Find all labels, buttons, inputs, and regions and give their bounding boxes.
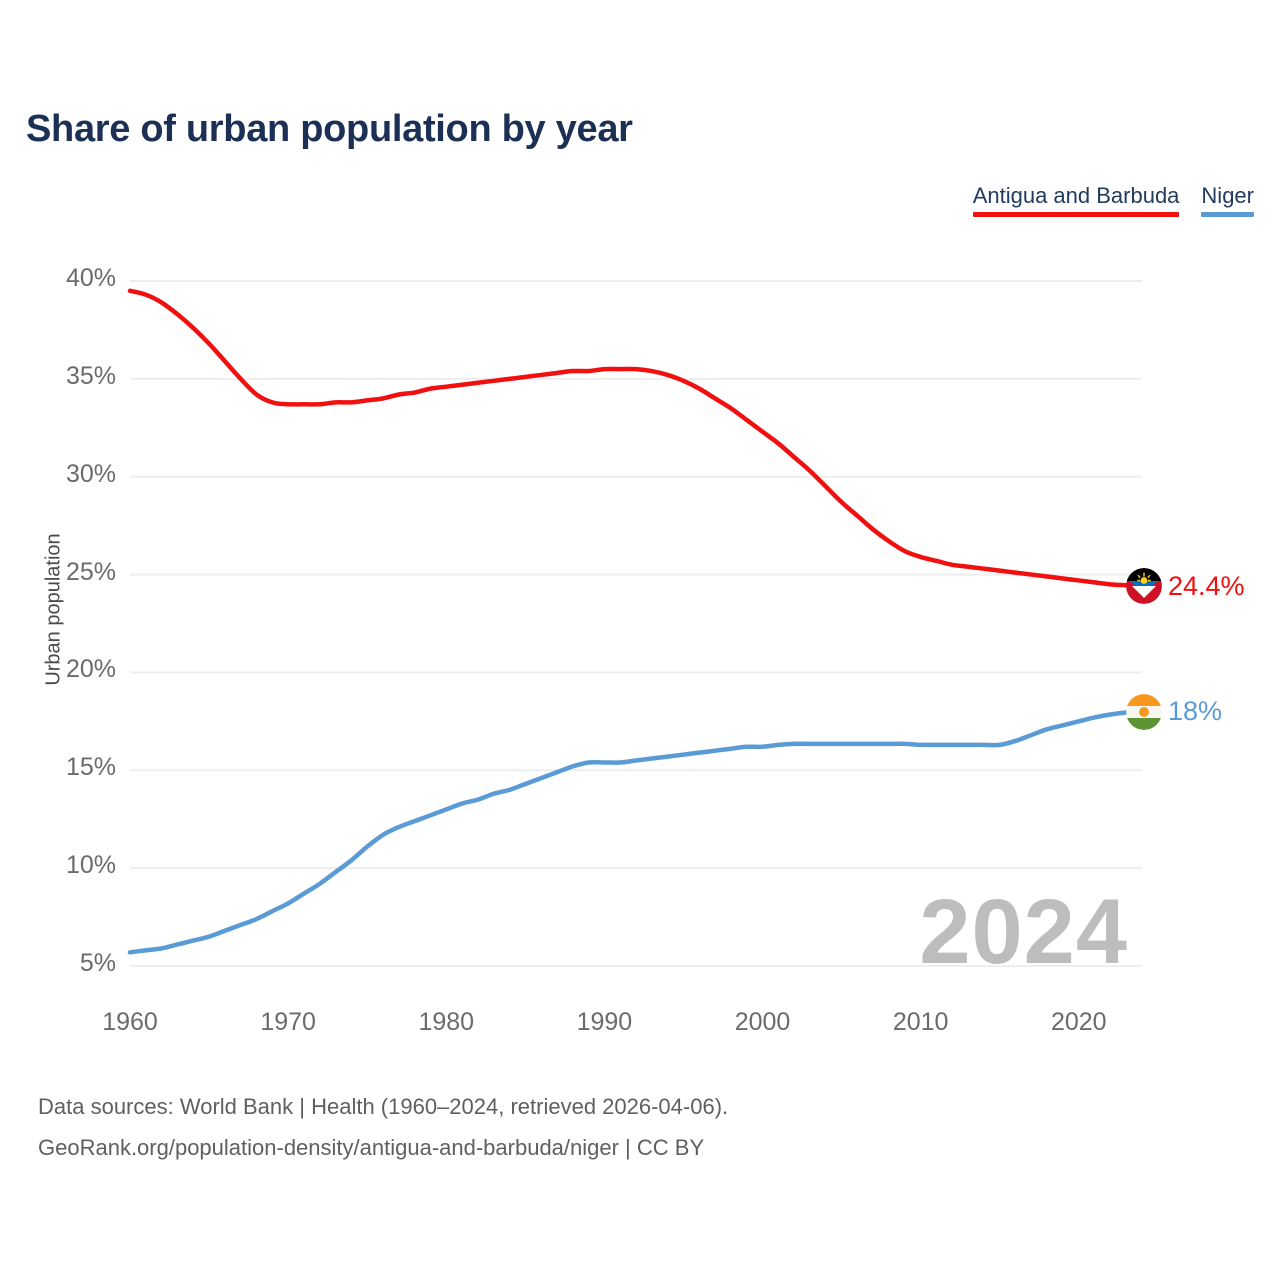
x-tick-label: 1970 <box>228 1008 348 1037</box>
footer-attribution: Data sources: World Bank | Health (1960–… <box>38 1086 728 1168</box>
niger-flag-icon <box>1126 694 1162 730</box>
y-tick-label: 5% <box>6 949 116 978</box>
endpoint-value-niger: 18% <box>1168 696 1222 727</box>
footer-line-url: GeoRank.org/population-density/antigua-a… <box>38 1127 728 1168</box>
series-line-antigua-and-barbuda <box>130 291 1142 587</box>
y-tick-label: 15% <box>6 753 116 782</box>
x-tick-label: 1990 <box>544 1008 664 1037</box>
gridlines <box>130 281 1142 966</box>
y-tick-label: 35% <box>6 362 116 391</box>
footer-line-sources: Data sources: World Bank | Health (1960–… <box>38 1086 728 1127</box>
y-tick-label: 40% <box>6 264 116 293</box>
x-tick-label: 2010 <box>861 1008 981 1037</box>
x-tick-label: 1980 <box>386 1008 506 1037</box>
x-tick-label: 2000 <box>703 1008 823 1037</box>
chart-container: Share of urban population by year Antigu… <box>0 0 1280 1280</box>
x-tick-label: 1960 <box>70 1008 190 1037</box>
endpoint-antigua-and-barbuda: 24.4% <box>1126 568 1245 604</box>
x-tick-label: 2020 <box>1019 1008 1139 1037</box>
y-tick-label: 10% <box>6 851 116 880</box>
y-tick-label: 30% <box>6 460 116 489</box>
endpoint-value-antigua-and-barbuda: 24.4% <box>1168 571 1245 602</box>
y-tick-label: 20% <box>6 655 116 684</box>
antigua-and-barbuda-flag-icon <box>1126 568 1162 604</box>
endpoint-niger: 18% <box>1126 694 1222 730</box>
series-lines <box>130 291 1142 953</box>
series-line-niger <box>130 712 1142 953</box>
y-tick-label: 25% <box>6 558 116 587</box>
